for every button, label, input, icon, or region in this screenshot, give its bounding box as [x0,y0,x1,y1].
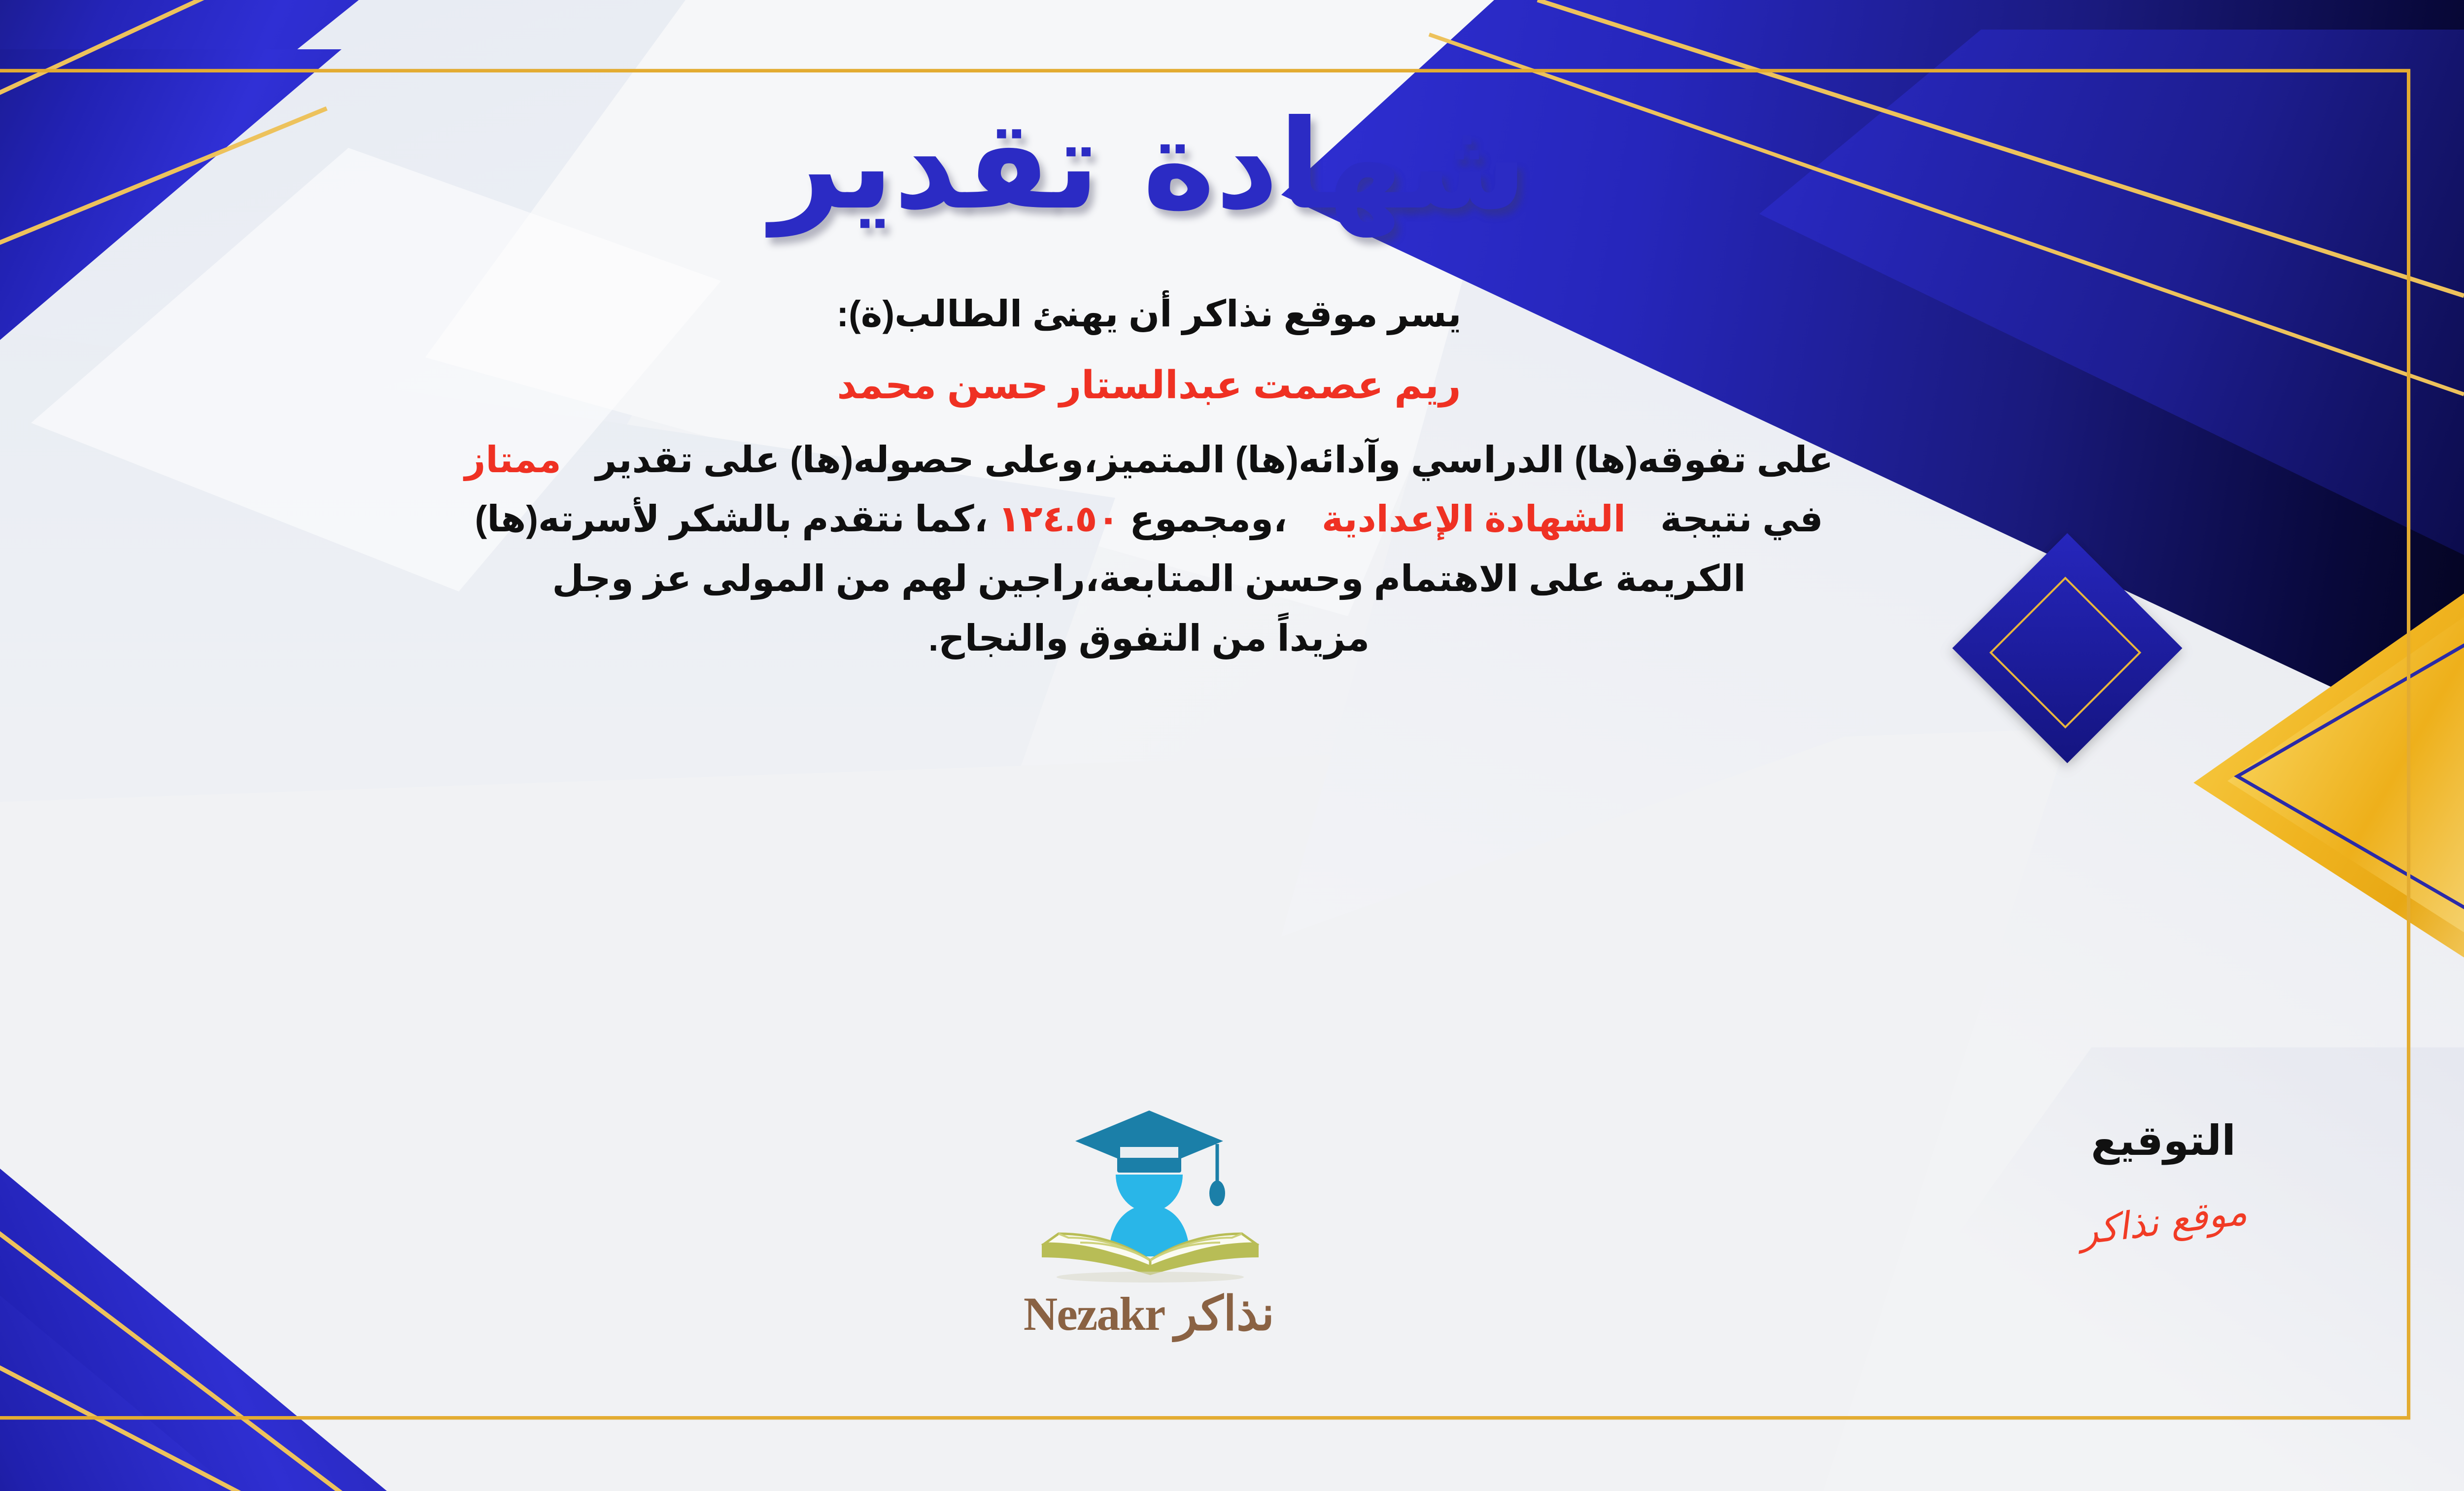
intro-line: يسر موقع نذاكر أن يهنئ الطالب(ة): [238,286,2061,343]
exam-prefix: في نتيجة [1660,498,1823,539]
achievement-text: على تفوقه(ها) الدراسي وآدائه(ها) المتميز… [596,439,1833,480]
certificate-body: يسر موقع نذاكر أن يهنئ الطالب(ة): ريم عص… [238,286,2061,669]
certificate-footer: التوقيع موقع نذاكر [0,1102,2385,1407]
total-score: ١٢٤.٥٠ [998,498,1119,539]
exam-result-line: في نتيجةالشهادة الإعدادية،ومجموع ١٢٤.٥٠ … [238,491,2061,548]
achievement-line: على تفوقه(ها) الدراسي وآدائه(ها) المتميز… [238,432,2061,488]
certificate-canvas: شهادة تقدير يسر موقع نذاكر أن يهنئ الطال… [0,0,2464,1491]
grade-value: ممتاز [465,439,561,480]
exam-name: الشهادة الإعدادية [1322,498,1626,539]
student-name: ريم عصمت عبدالستار حسن محمد [238,355,2061,415]
closing-line: مزيداً من التفوق والنجاح. [238,610,2061,667]
thanks-text: ،كما نتقدم بالشكر لأسرته(ها) [475,498,988,539]
page-title: شهادة تقدير [771,104,1527,227]
graduate-book-icon [1011,1102,1287,1284]
signature-block: التوقيع موقع نذاكر [1942,1116,2385,1243]
signature-label: التوقيع [1942,1116,2385,1165]
total-prefix: ،ومجموع [1129,498,1287,539]
gratitude-line: الكريمة على الاهتمام وحسن المتابعة،راجين… [238,551,2061,607]
nezakr-logo: Nezakr نذاكر [962,1102,1336,1341]
signature-mark: موقع نذاكر [2077,1189,2249,1253]
logo-wordmark: Nezakr نذاكر [962,1286,1336,1341]
